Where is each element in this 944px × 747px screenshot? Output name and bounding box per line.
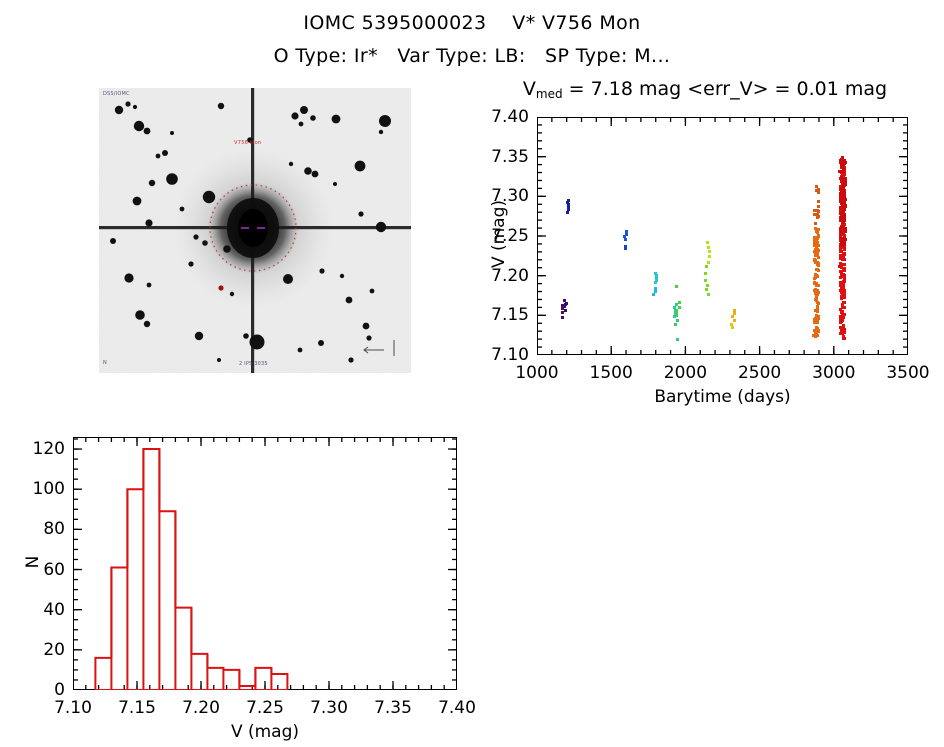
histogram-x-tick: 7.35: [363, 698, 423, 718]
light-curve-point: [842, 280, 845, 283]
light-curve-point: [654, 287, 657, 290]
light-curve-point: [678, 306, 681, 309]
light-curve-point: [707, 293, 710, 296]
histogram-x-tick: 7.15: [107, 698, 167, 718]
light-curve-point: [705, 265, 708, 268]
dss-finder-chart[interactable]: DSS/IOMC V756 Mon N 2 IPS 3035: [99, 88, 411, 373]
light-curve-point: [625, 230, 628, 233]
light-curve-point: [840, 297, 843, 300]
light-curve-point: [816, 334, 819, 337]
light-curve-point: [816, 254, 819, 257]
light-curve-point: [839, 326, 842, 329]
light-curve-point: [839, 254, 842, 257]
light-curve-x-tick: 2500: [730, 363, 790, 383]
light-curve-point: [840, 225, 843, 228]
light-curve-point: [813, 244, 816, 247]
light-curve-point: [624, 245, 627, 248]
light-curve-y-axis-title: V (mag): [489, 164, 509, 304]
light-curve-point: [733, 309, 736, 312]
light-curve-point: [567, 199, 570, 202]
light-curve-point: [843, 296, 846, 299]
light-curve-point: [564, 309, 567, 312]
light-curve-point: [843, 213, 846, 216]
histogram-x-tick: 7.10: [43, 698, 103, 718]
light-curve-point: [840, 188, 843, 191]
light-curve-point: [814, 276, 817, 279]
object-type-line: O Type: Ir* Var Type: LB: SP Type: M...: [0, 45, 944, 67]
light-curve-point: [707, 246, 710, 249]
light-curve-point: [652, 293, 655, 296]
light-curve-x-tick: 3000: [804, 363, 864, 383]
light-curve-point: [842, 168, 845, 171]
light-curve-point: [816, 268, 819, 271]
light-curve-x-axis-title: Barytime (days): [633, 387, 813, 407]
histogram-y-tick: 120: [11, 439, 65, 459]
light-curve-point: [817, 200, 820, 203]
light-curve-point: [814, 321, 817, 324]
light-curve-point: [705, 288, 708, 291]
light-curve-point: [843, 306, 846, 309]
light-curve-point: [707, 261, 710, 264]
light-curve-point: [840, 229, 843, 232]
light-curve-point: [813, 258, 816, 261]
light-curve-point: [561, 311, 564, 314]
light-curve-point: [816, 209, 819, 212]
light-curve-point: [842, 337, 845, 340]
histogram-x-tick: 7.20: [171, 698, 231, 718]
light-curve-y-tick: 7.10: [477, 345, 529, 365]
light-curve-point: [708, 250, 711, 253]
light-curve-point: [842, 253, 845, 256]
light-curve-point: [654, 290, 657, 293]
light-curve-point: [817, 249, 820, 252]
light-curve-point: [676, 319, 679, 322]
histogram-bars: [73, 437, 457, 690]
light-curve-y-tick: 7.15: [477, 305, 529, 325]
light-curve-point: [815, 284, 818, 287]
light-curve-x-tick: 2000: [655, 363, 715, 383]
light-curve-point: [706, 241, 709, 244]
light-curve-point: [815, 291, 818, 294]
light-curve-point: [817, 191, 820, 194]
light-curve-point: [816, 318, 819, 321]
light-curve-ticks: [537, 117, 908, 355]
light-curve-point: [813, 236, 816, 239]
light-curve-point: [840, 232, 843, 235]
light-curve-point: [816, 213, 819, 216]
light-curve-point: [708, 255, 711, 258]
light-curve-point: [733, 319, 736, 322]
vmed-symbol: V: [523, 78, 536, 100]
light-curve-point: [675, 314, 678, 317]
light-curve-point: [674, 323, 677, 326]
light-curve-point: [817, 262, 820, 265]
finder-source-label: DSS/IOMC: [103, 91, 130, 97]
light-curve-point: [839, 257, 842, 260]
finder-north-label: N: [103, 360, 107, 366]
histogram-x-tick: 7.25: [235, 698, 295, 718]
light-curve-point: [815, 299, 818, 302]
light-curve-x-tick: 1500: [581, 363, 641, 383]
light-curve-point: [817, 228, 820, 231]
light-curve-point: [678, 301, 681, 304]
light-curve-point: [842, 288, 845, 291]
light-curve-point: [841, 293, 844, 296]
light-curve-point: [816, 236, 819, 239]
light-curve-point: [843, 228, 846, 231]
light-curve-point: [816, 306, 819, 309]
vmed-subscript: med: [536, 87, 563, 101]
light-curve-point: [706, 284, 709, 287]
finder-target-label: V756 Mon: [234, 140, 262, 146]
vmed-values: = 7.18 mag <err_V> = 0.01 mag: [563, 78, 887, 100]
light-curve-point: [733, 312, 736, 315]
light-curve-point: [839, 320, 842, 323]
light-curve-point: [676, 338, 679, 341]
light-curve-point: [815, 294, 818, 297]
light-curve-point: [844, 183, 847, 186]
light-curve-point: [841, 157, 844, 160]
light-curve-point: [842, 324, 845, 327]
light-curve-point: [566, 211, 569, 214]
light-curve-point: [844, 180, 847, 183]
light-curve-point: [840, 202, 843, 205]
light-curve-point: [843, 195, 846, 198]
light-curve-point: [561, 316, 564, 319]
finder-bottom-label: 2 IPS 3035: [239, 361, 268, 367]
light-curve-point: [704, 279, 707, 282]
light-curve-point: [843, 243, 846, 246]
light-curve-point: [842, 263, 845, 266]
light-curve-point: [840, 219, 843, 222]
histogram-y-tick: 0: [11, 680, 65, 700]
light-curve-x-tick: 3500: [878, 363, 938, 383]
light-curve-point: [844, 205, 847, 208]
light-curve-point: [840, 176, 843, 179]
light-curve-point: [839, 237, 842, 240]
light-curve-x-tick: 1000: [507, 363, 567, 383]
light-curve-point: [841, 170, 844, 173]
light-curve-point: [814, 222, 817, 225]
magnitude-stats-line: Vmed = 7.18 mag <err_V> = 0.01 mag: [470, 78, 940, 101]
light-curve-point: [731, 315, 734, 318]
page-header: IOMC 5395000023 V* V756 Mon O Type: Ir* …: [0, 0, 944, 67]
histogram-y-tick: 20: [11, 640, 65, 660]
histogram-y-axis-title: N: [23, 492, 43, 632]
light-curve-point: [815, 329, 818, 332]
light-curve-point: [675, 311, 678, 314]
light-curve-point: [841, 303, 844, 306]
light-curve-point: [842, 237, 845, 240]
light-curve-point: [817, 205, 820, 208]
light-curve-point: [843, 258, 846, 261]
light-curve-point: [843, 248, 846, 251]
light-curve-point: [840, 206, 843, 209]
light-curve-point: [843, 331, 846, 334]
light-curve-y-tick: 7.40: [477, 107, 529, 127]
histogram-x-tick: 7.40: [427, 698, 487, 718]
light-curve-point: [731, 326, 734, 329]
histogram-x-axis-title: V (mag): [175, 722, 355, 742]
light-curve-point: [841, 315, 844, 318]
light-curve-point: [704, 272, 707, 275]
sky-image: [99, 88, 411, 373]
light-curve-point: [816, 216, 819, 219]
light-curve-point: [563, 299, 566, 302]
histogram-x-tick: 7.30: [299, 698, 359, 718]
light-curve-point: [840, 162, 843, 165]
light-curve-point: [654, 272, 657, 275]
light-curve-point: [730, 323, 733, 326]
page-title: IOMC 5395000023 V* V756 Mon: [0, 12, 944, 34]
light-curve-point: [675, 285, 678, 288]
light-curve-point: [838, 265, 841, 268]
light-curve-point: [842, 273, 845, 276]
light-curve-point: [843, 268, 846, 271]
